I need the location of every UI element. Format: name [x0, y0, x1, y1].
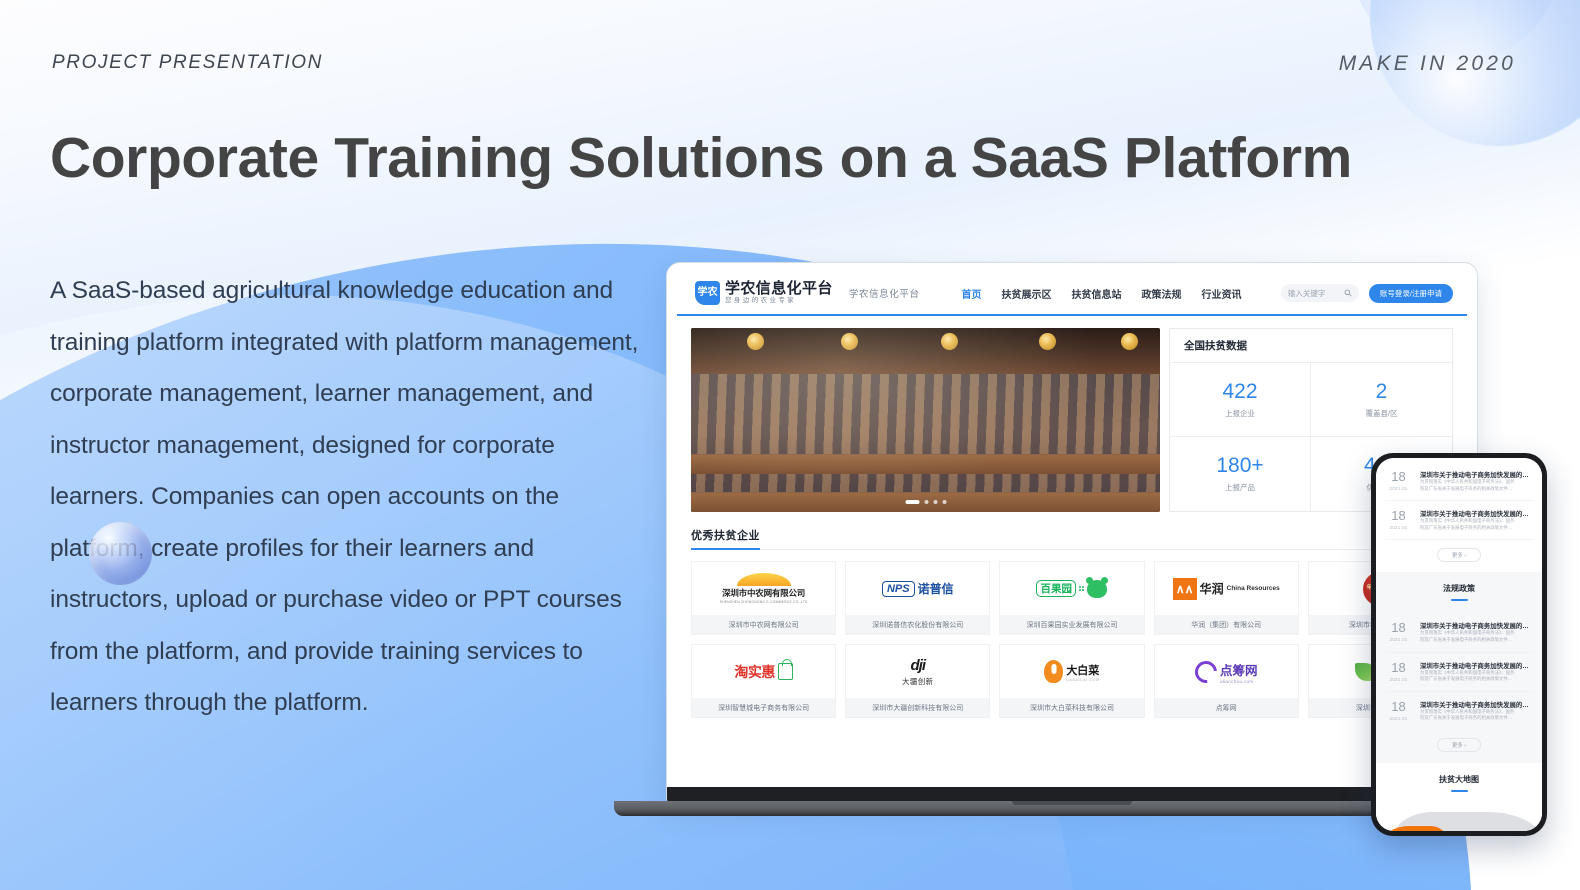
laptop-screen: 学农 学农信息化平台 您身边的农业专家 学农信息化平台 首页 扶贫展示区 扶贫信…	[677, 272, 1467, 785]
company-logo-nps: NPS 诺普信	[846, 562, 989, 615]
dianchou-mark-icon	[1190, 656, 1221, 687]
policy-section: 法规政策 18 2021.01 深圳市关于推动电子商务加快发展的若干… 为贯彻落…	[1376, 572, 1542, 763]
section-underline	[1451, 790, 1468, 792]
logo-alt-name: 学农信息化平台	[849, 286, 920, 300]
company-logo-dabaicai: 大白菜 DABAICAI.COM	[1000, 645, 1143, 698]
news-day: 18	[1385, 509, 1412, 522]
baiguoyuan-mascot-icon	[1087, 580, 1107, 598]
news-excerpt-line: 院及广东省关于发展电子商务的相关政策文件…	[1420, 637, 1533, 644]
company-card[interactable]: NPS 诺普信 深圳诺普信农化股份有限公司	[845, 561, 990, 635]
phone-mockup: 18 2021.01 深圳市关于推动电子商务加快发展的若干… 为贯彻落实《中华人…	[1371, 453, 1547, 836]
stat-label: 覆盖县/区	[1365, 408, 1397, 419]
search-placeholder: 输入关键字	[1288, 288, 1340, 299]
news-item[interactable]: 18 2021.01 深圳市关于推动电子商务加快发展的若干… 为贯彻落实《中华人…	[1385, 613, 1533, 652]
policy-section-title: 法规政策	[1376, 583, 1542, 594]
news-year-month: 2021.01	[1385, 525, 1412, 530]
more-button[interactable]: 更多 ›	[1437, 548, 1481, 562]
body-paragraph: A SaaS-based agricultural knowledge educ…	[50, 265, 650, 729]
map-section: 扶贫大地图 新疆 西藏 云南	[1376, 763, 1542, 831]
news-day: 18	[1385, 700, 1412, 713]
news-day: 18	[1385, 621, 1412, 634]
site-logo[interactable]: 学农 学农信息化平台 您身边的农业专家	[695, 281, 833, 305]
more-row: 更多 ›	[1376, 730, 1542, 762]
stats-panel-title: 全国扶贫数据	[1170, 329, 1452, 363]
zhongnong-arc-icon	[737, 573, 791, 586]
shopping-bag-icon	[778, 663, 793, 680]
news-body: 深圳市关于推动电子商务加快发展的若干… 为贯彻落实《中华人民共和国电子商务法》、…	[1420, 509, 1533, 531]
company-caption: 华润（集团）有限公司	[1155, 615, 1298, 634]
stat-value: 2	[1376, 381, 1388, 402]
company-logo-taoshihui: 淘实惠	[692, 645, 835, 698]
stat-label: 上报企业	[1225, 408, 1255, 419]
logo-name: 学农信息化平台	[725, 281, 833, 297]
site-nav-links: 首页 扶贫展示区 扶贫信息站 政策法规 行业资讯	[962, 286, 1242, 301]
china-resources-mark-icon: ∧∧	[1173, 578, 1197, 600]
company-logo-dianchou: 点筹网 idianchou.com	[1155, 645, 1298, 698]
news-title: 深圳市关于推动电子商务加快发展的若干…	[1420, 470, 1533, 479]
company-logo-cn: 大疆创新	[902, 676, 934, 687]
carousel-indicators[interactable]	[905, 500, 946, 504]
company-logo-baiguoyuan: 百果园	[1000, 562, 1143, 615]
news-day: 18	[1385, 661, 1412, 674]
stat-value: 180+	[1216, 455, 1263, 476]
section-underline	[1451, 599, 1468, 601]
company-card[interactable]: 点筹网 idianchou.com 点筹网	[1154, 644, 1299, 718]
company-card[interactable]: ∧∧ 华润 China Resources 华润（集团）有限公司	[1154, 561, 1299, 635]
company-logo-text: NPS	[882, 581, 915, 597]
stat-label: 上报产品	[1225, 482, 1255, 493]
company-logo-text: 深圳市中农网有限公司	[722, 587, 805, 599]
company-caption: 点筹网	[1155, 698, 1298, 717]
news-excerpt-line: 院及广东省关于发展电子商务的相关政策文件…	[1420, 676, 1533, 683]
news-excerpt-line: 院及广东省关于发展电子商务的相关政策文件…	[1420, 525, 1533, 532]
news-year-month: 2021.01	[1385, 637, 1412, 642]
news-date: 18 2021.01	[1385, 661, 1412, 683]
news-body: 深圳市关于推动电子商务加快发展的若干… 为贯彻落实《中华人民共和国电子商务法》、…	[1420, 700, 1533, 722]
news-date: 18 2021.01	[1385, 621, 1412, 643]
company-caption: 深圳百果园实业发展有限公司	[1000, 615, 1143, 634]
company-logo-subtext: SHENZHEN ZHONGNONG E-COMMERCE CO.,LTD	[720, 600, 808, 604]
section-title-companies: 优秀扶贫企业	[691, 527, 760, 550]
company-logo-cn: 诺普信	[918, 580, 954, 597]
company-card[interactable]: 淘实惠 深圳智慧城电子商务有限公司	[691, 644, 836, 718]
company-logo-text: dji	[911, 657, 926, 674]
map-section-title: 扶贫大地图	[1376, 774, 1542, 785]
company-caption: 深圳智慧城电子商务有限公司	[692, 698, 835, 717]
hero-carousel-image[interactable]	[691, 328, 1160, 512]
news-year-month: 2021.01	[1385, 486, 1412, 491]
company-logo-subtext: idianchou.com	[1220, 679, 1258, 684]
news-body: 深圳市关于推动电子商务加快发展的若干… 为贯彻落实《中华人民共和国电子商务法》、…	[1420, 470, 1533, 492]
stat-cell-reported-enterprises: 422 上报企业	[1170, 363, 1311, 437]
login-register-button[interactable]: 账号登录/注册申请	[1369, 284, 1453, 303]
more-button[interactable]: 更多 ›	[1437, 738, 1481, 752]
eyebrow-label: PROJECT PRESENTATION	[52, 52, 323, 74]
news-excerpt-line: 为贯彻落实《中华人民共和国电子商务法》、国务	[1420, 479, 1533, 486]
news-body: 深圳市关于推动电子商务加快发展的若干… 为贯彻落实《中华人民共和国电子商务法》、…	[1420, 661, 1533, 683]
company-logo-text: 点筹网	[1220, 660, 1258, 679]
nav-item-poverty-infostation[interactable]: 扶贫信息站	[1072, 286, 1122, 301]
logo-badge-icon: 学农	[695, 281, 720, 305]
phone-screen: 18 2021.01 深圳市关于推动电子商务加快发展的若干… 为贯彻落实《中华人…	[1376, 458, 1542, 831]
company-caption: 深圳诺普信农化股份有限公司	[846, 615, 989, 634]
carousel-dot[interactable]	[924, 500, 928, 504]
company-logo-subtext: DABAICAI.COM	[1066, 678, 1099, 682]
carousel-dot[interactable]	[942, 500, 946, 504]
laptop-mockup: 学农 学农信息化平台 您身边的农业专家 学农信息化平台 首页 扶贫展示区 扶贫信…	[666, 262, 1478, 802]
background-sphere-accent	[89, 522, 152, 585]
news-title: 深圳市关于推动电子商务加快发展的若干…	[1420, 509, 1533, 518]
carousel-dot-active[interactable]	[905, 500, 919, 504]
presentation-slide: PROJECT PRESENTATION MAKE IN 2020 Corpor…	[0, 0, 1580, 890]
hero-row: 全国扶贫数据 422 上报企业 2 覆盖县/区 180+	[677, 316, 1467, 512]
company-caption: 深圳市大白菜科技有限公司	[1000, 698, 1143, 717]
news-title: 深圳市关于推动电子商务加快发展的若干…	[1420, 661, 1533, 670]
news-day: 18	[1385, 470, 1412, 483]
logo-text-block: 学农信息化平台 您身边的农业专家	[725, 281, 833, 305]
company-logo-grid: 深圳市中农网有限公司 SHENZHEN ZHONGNONG E-COMMERCE…	[691, 561, 1453, 718]
company-caption: 深圳市大疆创新科技有限公司	[846, 698, 989, 717]
news-year-month: 2021.01	[1385, 677, 1412, 682]
baiguoyuan-dots-icon	[1079, 586, 1085, 592]
company-card[interactable]: dji 大疆创新 深圳市大疆创新科技有限公司	[845, 644, 990, 718]
company-logo-text: 大白菜	[1066, 662, 1099, 678]
company-logo-text: 百果园	[1036, 580, 1076, 597]
news-excerpt-line: 为贯彻落实《中华人民共和国电子商务法》、国务	[1420, 518, 1533, 525]
company-logo-text: 华润	[1200, 580, 1224, 597]
nav-right-group: 输入关键字 账号登录/注册申请	[1281, 284, 1453, 303]
nav-item-home[interactable]: 首页	[962, 286, 982, 301]
search-icon	[1344, 289, 1352, 297]
laptop-lid: 学农 学农信息化平台 您身边的农业专家 学农信息化平台 首页 扶贫展示区 扶贫信…	[666, 262, 1478, 802]
company-logo-huarun: ∧∧ 华润 China Resources	[1155, 562, 1298, 615]
section-divider	[691, 549, 1453, 550]
photo-glare	[691, 328, 1160, 512]
search-input[interactable]: 输入关键字	[1281, 284, 1359, 302]
company-logo-zhongnong: 深圳市中农网有限公司 SHENZHEN ZHONGNONG E-COMMERCE…	[692, 562, 835, 615]
news-item[interactable]: 18 2021.01 深圳市关于推动电子商务加快发展的若干… 为贯彻落实《中华人…	[1385, 462, 1533, 501]
companies-section: 优秀扶贫企业 深圳市中农网有限公司 SHENZHEN ZHONGNONG E-C…	[677, 512, 1467, 718]
stat-cell-reported-products: 180+ 上报产品	[1170, 437, 1311, 511]
news-title: 深圳市关于推动电子商务加快发展的若干…	[1420, 621, 1533, 630]
phone-news-list-top: 18 2021.01 深圳市关于推动电子商务加快发展的若干… 为贯彻落实《中华人…	[1376, 458, 1542, 540]
news-excerpt-line: 为贯彻落实《中华人民共和国电子商务法》、国务	[1420, 630, 1533, 637]
more-row: 更多 ›	[1376, 540, 1542, 572]
page-title: Corporate Training Solutions on a SaaS P…	[50, 125, 1352, 191]
stat-value: 422	[1222, 381, 1257, 402]
news-excerpt-line: 为贯彻落实《中华人民共和国电子商务法》、国务	[1420, 709, 1533, 716]
stat-cell-covered-counties: 2 覆盖县/区	[1311, 363, 1452, 437]
company-logo-text: 淘实惠	[734, 662, 775, 682]
news-item[interactable]: 18 2021.01 深圳市关于推动电子商务加快发展的若干… 为贯彻落实《中华人…	[1385, 692, 1533, 730]
company-logo-en: China Resources	[1227, 585, 1280, 592]
news-item[interactable]: 18 2021.01 深圳市关于推动电子商务加快发展的若干… 为贯彻落实《中华人…	[1385, 653, 1533, 692]
news-date: 18 2021.01	[1385, 470, 1412, 492]
news-excerpt-line: 院及广东省关于发展电子商务的相关政策文件…	[1420, 486, 1533, 493]
dabaicai-mark-icon	[1044, 660, 1063, 683]
company-card[interactable]: 百果园 深圳百果园实业发展有限公司	[999, 561, 1144, 635]
news-body: 深圳市关于推动电子商务加快发展的若干… 为贯彻落实《中华人民共和国电子商务法》、…	[1420, 621, 1533, 643]
make-in-label: MAKE IN 2020	[1339, 52, 1516, 76]
news-date: 18 2021.01	[1385, 509, 1412, 531]
phone-news-list-policy: 18 2021.01 深圳市关于推动电子商务加快发展的若干… 为贯彻落实《中华人…	[1376, 609, 1542, 730]
china-poverty-map[interactable]: 新疆 西藏 云南	[1376, 800, 1542, 831]
news-excerpt-line: 为贯彻落实《中华人民共和国电子商务法》、国务	[1420, 670, 1533, 677]
news-excerpt-line: 院及广东省关于发展电子商务的相关政策文件…	[1420, 715, 1533, 722]
news-date: 18 2021.01	[1385, 700, 1412, 722]
nav-item-poverty-showcase[interactable]: 扶贫展示区	[1002, 286, 1052, 301]
carousel-dot[interactable]	[933, 500, 937, 504]
news-title: 深圳市关于推动电子商务加快发展的若干…	[1420, 700, 1533, 709]
company-logo-dji: dji 大疆创新	[846, 645, 989, 698]
news-year-month: 2021.01	[1385, 716, 1412, 721]
map-region-xinjiang[interactable]: 新疆	[1384, 826, 1448, 831]
news-item[interactable]: 18 2021.01 深圳市关于推动电子商务加快发展的若干… 为贯彻落实《中华人…	[1385, 501, 1533, 540]
logo-tagline: 您身边的农业专家	[725, 298, 833, 305]
company-card[interactable]: 大白菜 DABAICAI.COM 深圳市大白菜科技有限公司	[999, 644, 1144, 718]
site-navbar: 学农 学农信息化平台 您身边的农业专家 学农信息化平台 首页 扶贫展示区 扶贫信…	[677, 272, 1467, 316]
company-caption: 深圳市中农网有限公司	[692, 615, 835, 634]
nav-item-industry-news[interactable]: 行业资讯	[1202, 286, 1242, 301]
nav-item-policy-regulations[interactable]: 政策法规	[1142, 286, 1182, 301]
company-card[interactable]: 深圳市中农网有限公司 SHENZHEN ZHONGNONG E-COMMERCE…	[691, 561, 836, 635]
